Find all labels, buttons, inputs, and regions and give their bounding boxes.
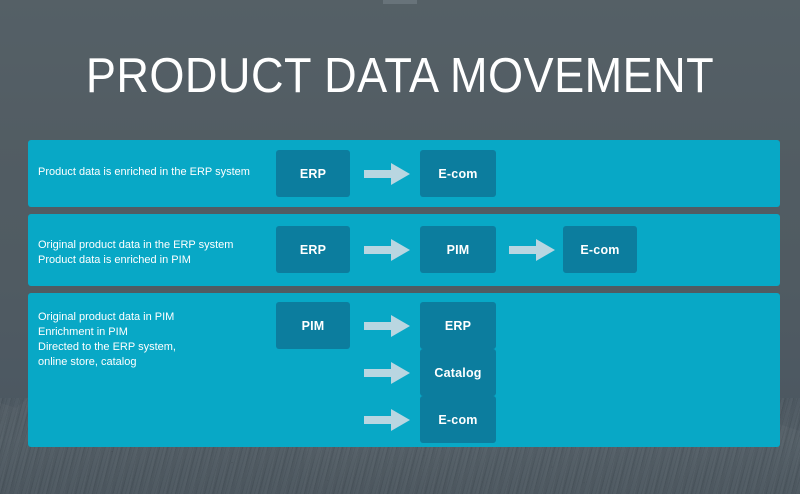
arrow-right-icon [364, 408, 410, 432]
row-3-description-line-2: Enrichment in PIM [38, 325, 176, 340]
row-2-description: Original product data in the ERP system … [38, 238, 233, 268]
row-2-description-line-2: Product data is enriched in PIM [38, 253, 233, 268]
node-ecom-row3[interactable]: E-com [420, 396, 496, 443]
flow-row-3: Original product data in PIM Enrichment … [28, 293, 780, 447]
row-3-description-line-3: Directed to the ERP system, [38, 340, 176, 355]
node-erp-row3[interactable]: ERP [420, 302, 496, 349]
page-title: PRODUCT DATA MOVEMENT [32, 52, 768, 101]
row-3-description: Original product data in PIM Enrichment … [38, 310, 176, 370]
row-1-description: Product data is enriched in the ERP syst… [38, 165, 250, 180]
flow-row-1: Product data is enriched in the ERP syst… [28, 140, 780, 207]
row-2-description-line-1: Original product data in the ERP system [38, 238, 233, 253]
row-3-description-line-4: online store, catalog [38, 355, 176, 370]
node-pim-row2[interactable]: PIM [420, 226, 496, 273]
node-erp-row1[interactable]: ERP [276, 150, 350, 197]
slide-canvas: PRODUCT DATA MOVEMENT Product data is en… [0, 0, 800, 494]
row-1-description-line-1: Product data is enriched in the ERP syst… [38, 165, 250, 180]
arrow-right-icon [364, 361, 410, 385]
arrow-right-icon [364, 238, 410, 262]
top-edge-sliver [383, 0, 417, 4]
flow-row-2: Original product data in the ERP system … [28, 214, 780, 286]
node-erp-row2[interactable]: ERP [276, 226, 350, 273]
row-3-description-line-1: Original product data in PIM [38, 310, 176, 325]
arrow-right-icon [509, 238, 555, 262]
arrow-right-icon [364, 162, 410, 186]
node-ecom-row2[interactable]: E-com [563, 226, 637, 273]
node-ecom-row1[interactable]: E-com [420, 150, 496, 197]
node-pim-row3[interactable]: PIM [276, 302, 350, 349]
node-catalog-row3[interactable]: Catalog [420, 349, 496, 396]
arrow-right-icon [364, 314, 410, 338]
